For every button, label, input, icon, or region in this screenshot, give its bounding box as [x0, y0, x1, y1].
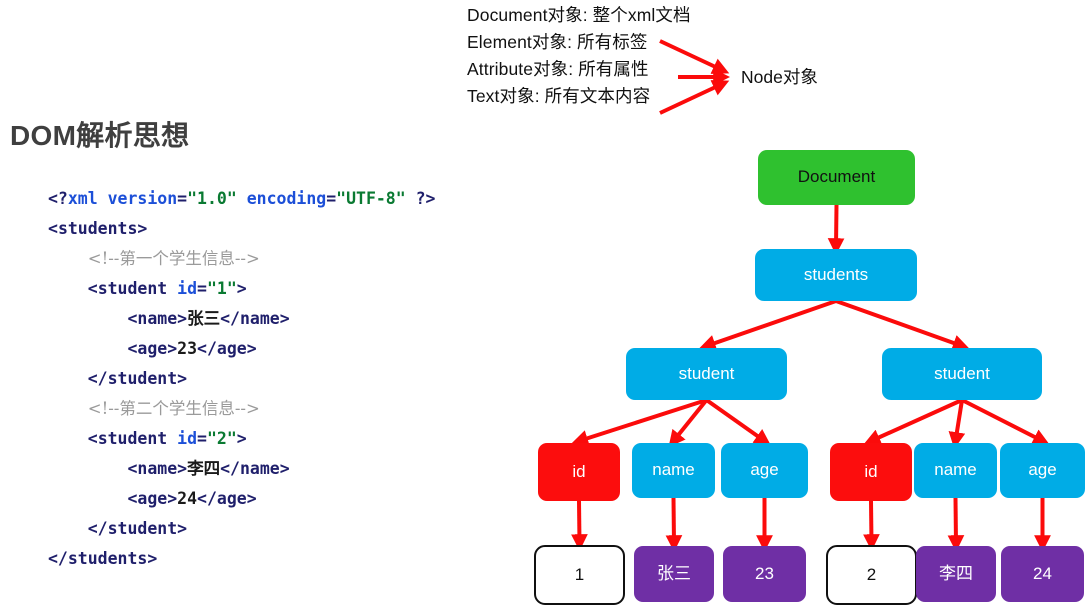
code-token-punc: ?>	[406, 189, 436, 208]
legend-node-target-label: Node对象	[741, 64, 818, 91]
code-token-tag: name	[240, 459, 280, 478]
code-token-punc	[237, 189, 247, 208]
tree-node-val-name-2[interactable]: 李四	[916, 546, 996, 602]
tree-node-label: 23	[755, 565, 774, 584]
code-line: <name>张三</name>	[48, 304, 436, 334]
code-token-punc	[167, 279, 177, 298]
legend-block: Document对象: 整个xml文档 Element对象: 所有标签 Attr…	[467, 2, 797, 110]
tree-node-val-id-1[interactable]: 1	[534, 545, 625, 605]
tree-edge-elem-name-2-to-val-name-2	[956, 498, 957, 544]
code-token-punc: =	[326, 189, 336, 208]
code-line: </student>	[48, 364, 436, 394]
tree-node-student-1[interactable]: student	[626, 348, 787, 400]
code-token-punc	[167, 429, 177, 448]
code-token-val: "1"	[207, 279, 237, 298]
code-token-punc: >	[137, 219, 147, 238]
code-token-punc: >	[247, 339, 257, 358]
tree-node-student-2[interactable]: student	[882, 348, 1042, 400]
code-line: <students>	[48, 214, 436, 244]
tree-node-label: student	[934, 365, 990, 384]
code-token-attr: id	[177, 429, 197, 448]
code-token-tag: age	[137, 489, 167, 508]
code-token-punc: =	[197, 429, 207, 448]
code-token-tag: student	[108, 519, 178, 538]
code-token-punc: </	[220, 459, 240, 478]
tree-node-elem-age-1[interactable]: age	[721, 443, 808, 498]
xml-code-block: <?xml version="1.0" encoding="UTF-8" ?><…	[48, 184, 436, 574]
tree-node-label: name	[934, 461, 977, 480]
tree-node-val-age-1[interactable]: 23	[723, 546, 806, 602]
code-token-punc: >	[177, 459, 187, 478]
code-line: <?xml version="1.0" encoding="UTF-8" ?>	[48, 184, 436, 214]
code-token-text: 李四	[187, 459, 220, 478]
code-line: <!--第二个学生信息-->	[48, 394, 436, 424]
code-token-tag: students	[68, 549, 147, 568]
code-line: <student id="1">	[48, 274, 436, 304]
code-token-attr: id	[177, 279, 197, 298]
tree-edge-student-2-to-elem-age-2	[962, 400, 1043, 441]
tree-node-label: students	[804, 266, 868, 285]
tree-node-label: 2	[867, 566, 876, 585]
tree-edge-document-to-students	[836, 205, 837, 247]
tree-node-label: Document	[798, 168, 875, 187]
code-token-tag: age	[217, 489, 247, 508]
tree-node-label: age	[750, 461, 778, 480]
code-token-punc: >	[177, 519, 187, 538]
code-token-text: 24	[177, 489, 197, 508]
tree-node-label: age	[1028, 461, 1056, 480]
code-token-punc: >	[237, 429, 247, 448]
code-line: <student id="2">	[48, 424, 436, 454]
page-title: DOM解析思想	[10, 114, 189, 154]
tree-edge-students-to-student-1	[707, 301, 837, 346]
code-token-punc: <	[127, 459, 137, 478]
code-token-tag: students	[58, 219, 137, 238]
code-token-punc: <	[88, 279, 98, 298]
tree-edge-student-1-to-elem-name-1	[674, 400, 707, 441]
code-token-tag: student	[98, 279, 168, 298]
code-token-punc: <	[127, 489, 137, 508]
code-token-punc: >	[280, 459, 290, 478]
code-token-punc: <	[127, 339, 137, 358]
tree-node-label: id	[572, 463, 585, 482]
tree-node-label: 张三	[657, 565, 691, 584]
code-token-tag: student	[108, 369, 178, 388]
tree-node-label: id	[864, 463, 877, 482]
code-token-punc: >	[177, 309, 187, 328]
code-line: <name>李四</name>	[48, 454, 436, 484]
tree-node-attr-id-1[interactable]: id	[538, 443, 620, 501]
code-token-tag: student	[98, 429, 168, 448]
tree-edge-attr-id-2-to-val-id-2	[871, 501, 872, 543]
code-token-punc	[98, 189, 108, 208]
code-token-tag: age	[217, 339, 247, 358]
code-token-punc: </	[88, 369, 108, 388]
tree-edge-student-2-to-elem-name-2	[956, 400, 963, 441]
tree-node-label: name	[652, 461, 695, 480]
legend-line-element: Element对象: 所有标签	[467, 29, 797, 56]
code-token-punc: =	[197, 279, 207, 298]
code-token-pi: xml	[68, 189, 98, 208]
code-token-val: "UTF-8"	[336, 189, 406, 208]
code-token-tag: name	[137, 309, 177, 328]
code-token-punc: >	[280, 309, 290, 328]
code-token-punc: <	[88, 429, 98, 448]
code-token-punc: >	[147, 549, 157, 568]
tree-edge-student-1-to-attr-id-1	[579, 400, 707, 441]
code-token-text: 23	[177, 339, 197, 358]
tree-node-label: 1	[575, 566, 584, 585]
code-token-val: "2"	[207, 429, 237, 448]
code-token-tag: name	[137, 459, 177, 478]
tree-edge-student-2-to-attr-id-2	[871, 400, 962, 441]
tree-node-elem-name-2[interactable]: name	[914, 443, 997, 498]
code-token-punc: <?	[48, 189, 68, 208]
tree-node-document[interactable]: Document	[758, 150, 915, 205]
tree-node-students[interactable]: students	[755, 249, 917, 301]
legend-line-document: Document对象: 整个xml文档	[467, 2, 797, 29]
code-token-punc: </	[88, 519, 108, 538]
code-token-punc: </	[197, 339, 217, 358]
code-token-punc: </	[48, 549, 68, 568]
code-token-tag: age	[137, 339, 167, 358]
tree-node-val-name-1[interactable]: 张三	[634, 546, 714, 602]
code-line: <age>24</age>	[48, 484, 436, 514]
code-token-tag: name	[240, 309, 280, 328]
code-token-punc: </	[220, 309, 240, 328]
tree-edge-students-to-student-2	[836, 301, 962, 346]
code-token-punc: >	[237, 279, 247, 298]
code-token-punc: </	[197, 489, 217, 508]
code-token-attr: encoding	[247, 189, 326, 208]
tree-node-elem-name-1[interactable]: name	[632, 443, 715, 498]
code-line: </students>	[48, 544, 436, 574]
code-token-punc: >	[167, 339, 177, 358]
tree-edge-attr-id-1-to-val-id-1	[579, 501, 580, 543]
tree-edge-student-1-to-elem-age-1	[707, 400, 765, 441]
tree-node-val-age-2[interactable]: 24	[1001, 546, 1084, 602]
tree-node-label: 24	[1033, 565, 1052, 584]
slide-canvas: Document对象: 整个xml文档 Element对象: 所有标签 Attr…	[0, 0, 1085, 609]
code-line: <age>23</age>	[48, 334, 436, 364]
tree-node-elem-age-2[interactable]: age	[1000, 443, 1085, 498]
code-token-val: "1.0"	[187, 189, 237, 208]
code-token-punc: >	[247, 489, 257, 508]
code-line: </student>	[48, 514, 436, 544]
tree-node-label: student	[679, 365, 735, 384]
tree-edge-elem-name-1-to-val-name-1	[674, 498, 675, 544]
code-token-punc: <	[48, 219, 58, 238]
code-token-attr: version	[108, 189, 178, 208]
code-token-comment: <!--第一个学生信息-->	[88, 249, 260, 268]
code-token-punc: <	[127, 309, 137, 328]
tree-node-val-id-2[interactable]: 2	[826, 545, 917, 605]
code-token-comment: <!--第二个学生信息-->	[88, 399, 260, 418]
code-token-punc: >	[167, 489, 177, 508]
tree-node-label: 李四	[939, 565, 973, 584]
code-line: <!--第一个学生信息-->	[48, 244, 436, 274]
code-token-punc: >	[177, 369, 187, 388]
code-token-text: 张三	[187, 309, 220, 328]
tree-node-attr-id-2[interactable]: id	[830, 443, 912, 501]
code-token-punc: =	[177, 189, 187, 208]
